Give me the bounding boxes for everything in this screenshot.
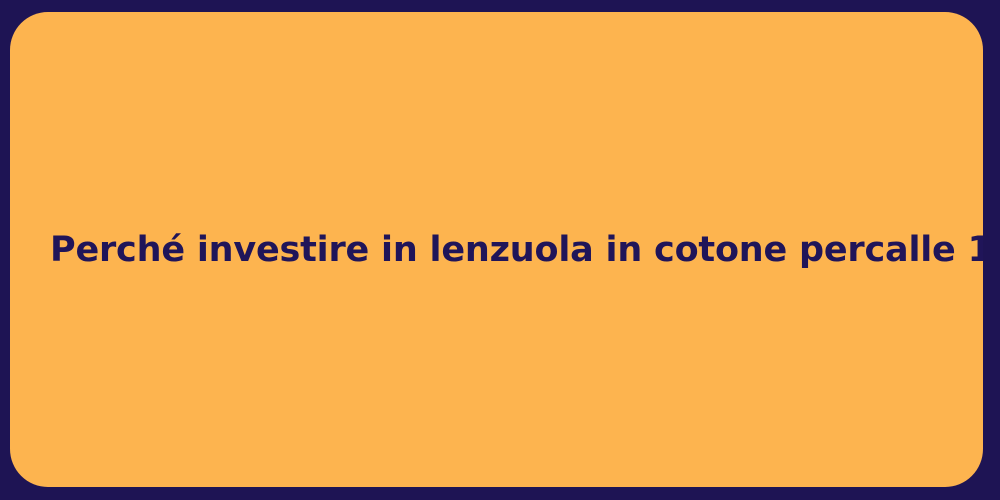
headline-card: Perché investire in lenzuola in cotone p… xyxy=(10,12,983,487)
page-canvas: Perché investire in lenzuola in cotone p… xyxy=(0,0,1000,500)
page-title: Perché investire in lenzuola in cotone p… xyxy=(10,230,983,270)
